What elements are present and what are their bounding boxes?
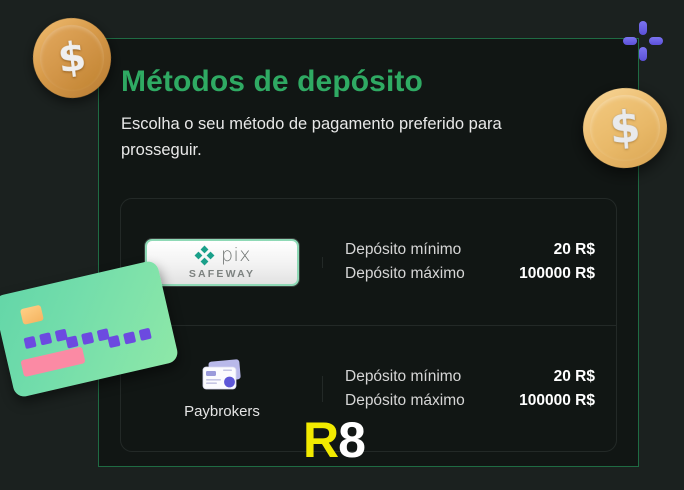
card-stack-icon	[198, 358, 246, 394]
brand-number-8: 8	[338, 412, 365, 468]
amount-row: Depósito máximo 100000 R$	[345, 262, 595, 286]
coin-dollar-symbol: $	[56, 36, 89, 79]
coin-dollar-symbol: $	[608, 105, 642, 151]
max-deposit-value: 100000 R$	[519, 389, 595, 413]
pix-logo-row: pix	[193, 245, 251, 267]
plus-sparkle-icon	[622, 20, 664, 62]
pix-logo-tile[interactable]: pix SAFEWAY	[145, 239, 299, 286]
card-digit-group	[23, 329, 67, 349]
plus-lobe-left	[623, 37, 637, 45]
amount-row: Depósito máximo 100000 R$	[345, 389, 595, 413]
page-subtitle: Escolha o seu método de pagamento prefer…	[121, 111, 573, 163]
plus-lobe-right	[649, 37, 663, 45]
min-deposit-label: Depósito mínimo	[345, 365, 461, 389]
min-deposit-value: 20 R$	[554, 365, 595, 389]
payment-method-pix-safeway[interactable]: pix SAFEWAY Depósito mínimo 20 R$ Depósi…	[121, 199, 616, 325]
card-chip	[20, 305, 44, 325]
min-deposit-label: Depósito mínimo	[345, 238, 461, 262]
pix-amounts: Depósito mínimo 20 R$ Depósito máximo 10…	[323, 238, 616, 285]
paybrokers-label: Paybrokers	[184, 403, 260, 420]
amount-row: Depósito mínimo 20 R$	[345, 365, 595, 389]
card-stripe	[20, 346, 85, 377]
paybrokers-logo-wrap[interactable]: Paybrokers	[184, 358, 260, 420]
page-title: Métodos de depósito	[121, 65, 616, 99]
min-deposit-value: 20 R$	[554, 238, 595, 262]
plus-lobe-down	[639, 47, 647, 61]
panel-content: Métodos de depósito Escolha o seu método…	[121, 65, 616, 163]
max-deposit-label: Depósito máximo	[345, 389, 465, 413]
plus-lobe-up	[639, 21, 647, 35]
payment-methods-list: pix SAFEWAY Depósito mínimo 20 R$ Depósi…	[120, 198, 617, 452]
paybrokers-amounts: Depósito mínimo 20 R$ Depósito máximo 10…	[323, 365, 616, 412]
page-background: Métodos de depósito Escolha o seu método…	[0, 0, 684, 490]
brand-letter-r: R	[303, 412, 338, 468]
payment-method-paybrokers[interactable]: Paybrokers Depósito mínimo 20 R$ Depósit…	[121, 325, 616, 451]
pix-diamond-icon	[193, 244, 216, 267]
card-digit-group	[107, 328, 151, 348]
brand-logo-r8: R8	[303, 415, 365, 465]
pix-wordmark: pix	[221, 246, 251, 265]
amount-row: Depósito mínimo 20 R$	[345, 238, 595, 262]
pix-safeway-label: SAFEWAY	[189, 268, 255, 280]
card-digit-group	[65, 328, 109, 348]
max-deposit-value: 100000 R$	[519, 262, 595, 286]
max-deposit-label: Depósito máximo	[345, 262, 465, 286]
